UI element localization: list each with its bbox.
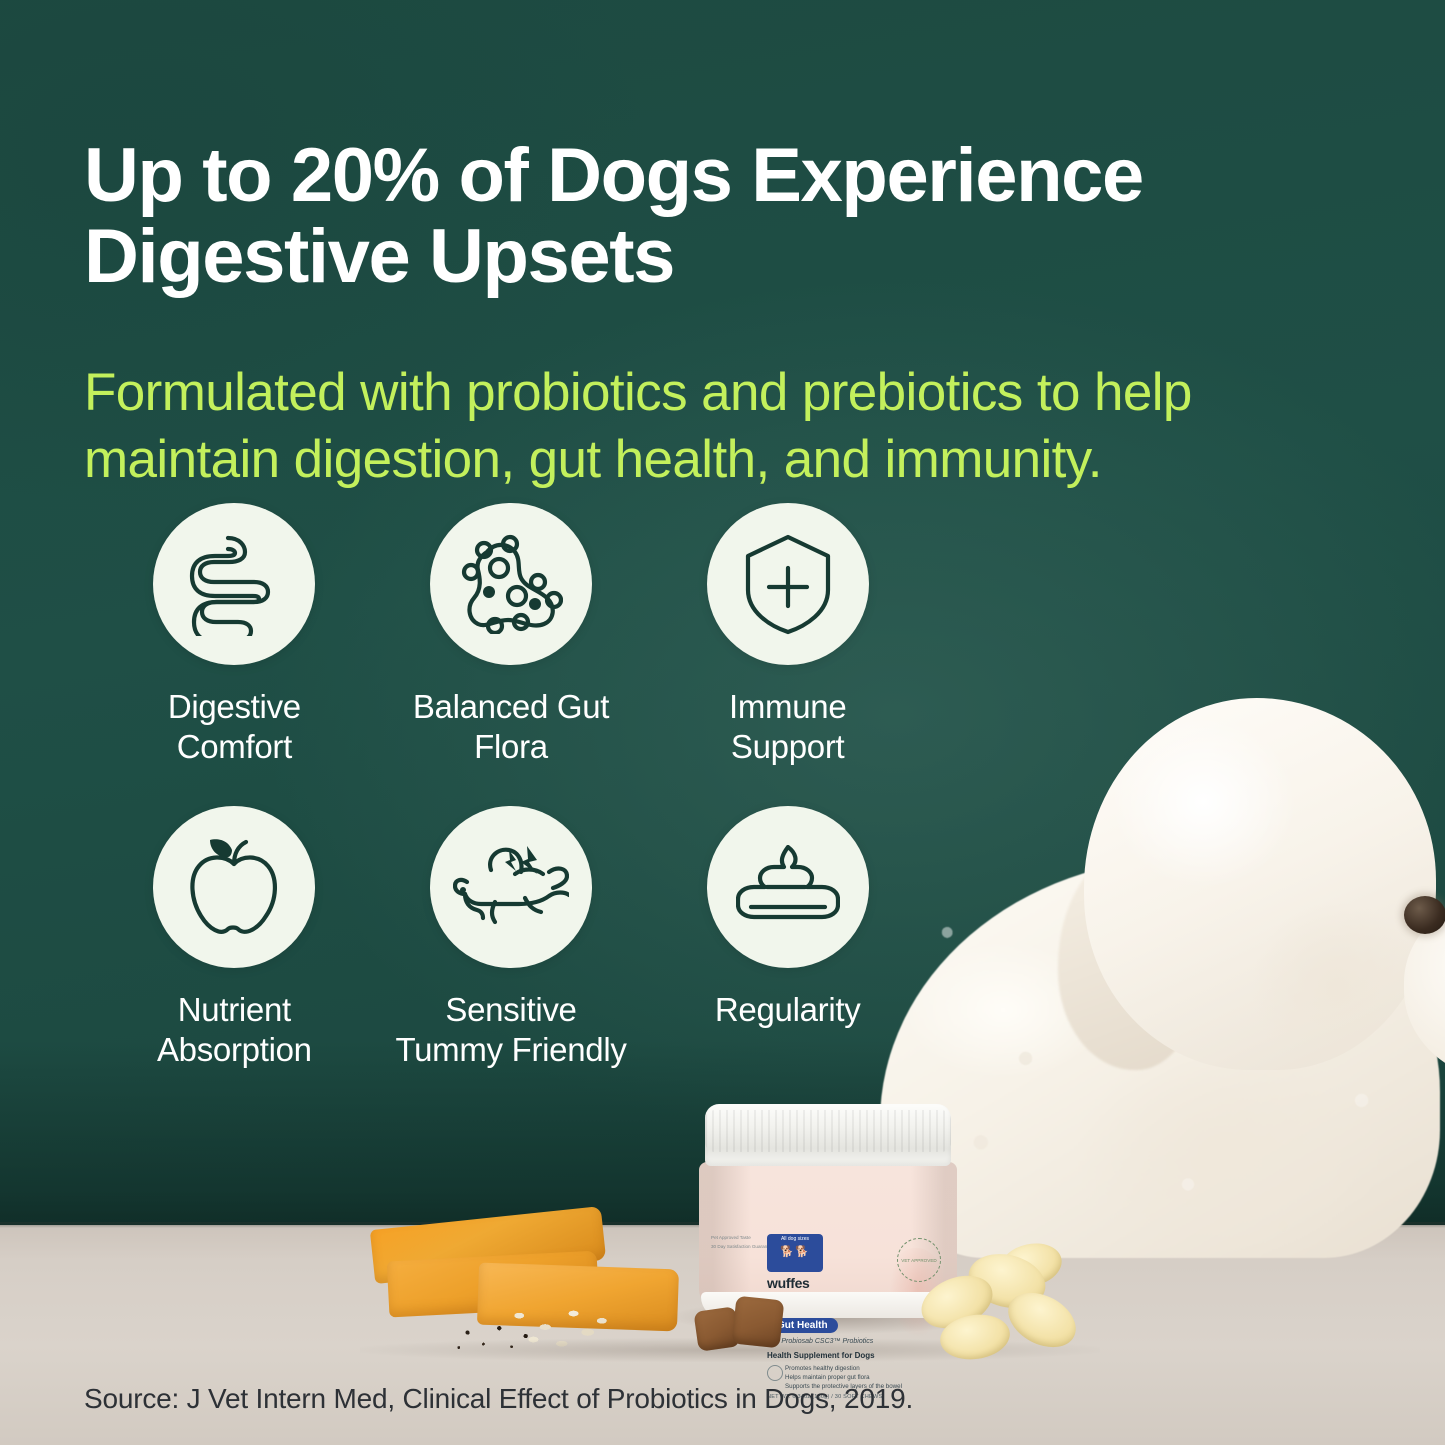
- bacteria-icon: [459, 534, 563, 634]
- feature-balanced-gut-flora: Balanced Gut Flora: [373, 503, 650, 768]
- icon-circle: [707, 806, 869, 968]
- feature-digestive-comfort: Digestive Comfort: [96, 503, 373, 768]
- icon-circle: [430, 806, 592, 968]
- icon-circle: [707, 503, 869, 665]
- icon-circle: [153, 806, 315, 968]
- all-dog-sizes-badge: All dog sizes 🐕🐕: [767, 1234, 823, 1272]
- subheadline: Formulated with probiotics and prebiotic…: [84, 360, 1374, 494]
- dog-head: [1084, 698, 1436, 1070]
- dog-photo: [880, 690, 1445, 1250]
- dog-silhouettes-icon: 🐕🐕: [767, 1246, 823, 1258]
- feature-label: Regularity: [715, 990, 861, 1030]
- stool-icon: [736, 845, 840, 929]
- headline: Up to 20% of Dogs Experience Digestive U…: [84, 135, 1354, 298]
- icon-circle: [430, 503, 592, 665]
- dog-left-eye: [1404, 896, 1445, 934]
- paw-icon: [767, 1365, 783, 1381]
- probiotic-tagline: with Probiosab CSC3™ Probiotics: [767, 1338, 873, 1345]
- dog-upset-tummy-icon: [453, 844, 569, 930]
- supplement-line: Health Supplement for Dogs: [767, 1351, 875, 1360]
- feature-label: Nutrient Absorption: [157, 990, 312, 1071]
- intestine-icon: [188, 532, 280, 636]
- jar-lid-ribs: [705, 1110, 951, 1152]
- feature-sensitive-tummy: Sensitive Tummy Friendly: [373, 806, 650, 1071]
- feature-nutrient-absorption: Nutrient Absorption: [96, 806, 373, 1071]
- icon-circle: [153, 503, 315, 665]
- feature-grid: Digestive Comfort Balanced Gut Fl: [96, 503, 926, 1070]
- feature-label: Immune Support: [729, 687, 846, 768]
- shield-plus-icon: [740, 532, 836, 636]
- product-jar: Pet Approved Taste 30 Day Satisfaction G…: [699, 1104, 957, 1322]
- source-citation: Source: J Vet Intern Med, Clinical Effec…: [84, 1383, 913, 1415]
- brand-name: wuffes: [767, 1275, 810, 1291]
- feature-row-1: Digestive Comfort Balanced Gut Fl: [96, 503, 926, 768]
- feature-label: Balanced Gut Flora: [413, 687, 609, 768]
- feature-immune-support: Immune Support: [649, 503, 926, 768]
- feature-label: Digestive Comfort: [168, 687, 301, 768]
- promo-infographic: Up to 20% of Dogs Experience Digestive U…: [0, 0, 1445, 1445]
- feature-row-2: Nutrient Absorption: [96, 768, 926, 1071]
- feature-label: Sensitive Tummy Friendly: [395, 990, 626, 1071]
- apple-icon: [185, 836, 283, 938]
- vet-approved-seal: VET APPROVED: [897, 1238, 941, 1282]
- label-side-icons: Pet Approved Taste 30 Day Satisfaction G…: [711, 1234, 774, 1251]
- soft-chew: [732, 1296, 785, 1349]
- feature-regularity: Regularity: [649, 806, 926, 1071]
